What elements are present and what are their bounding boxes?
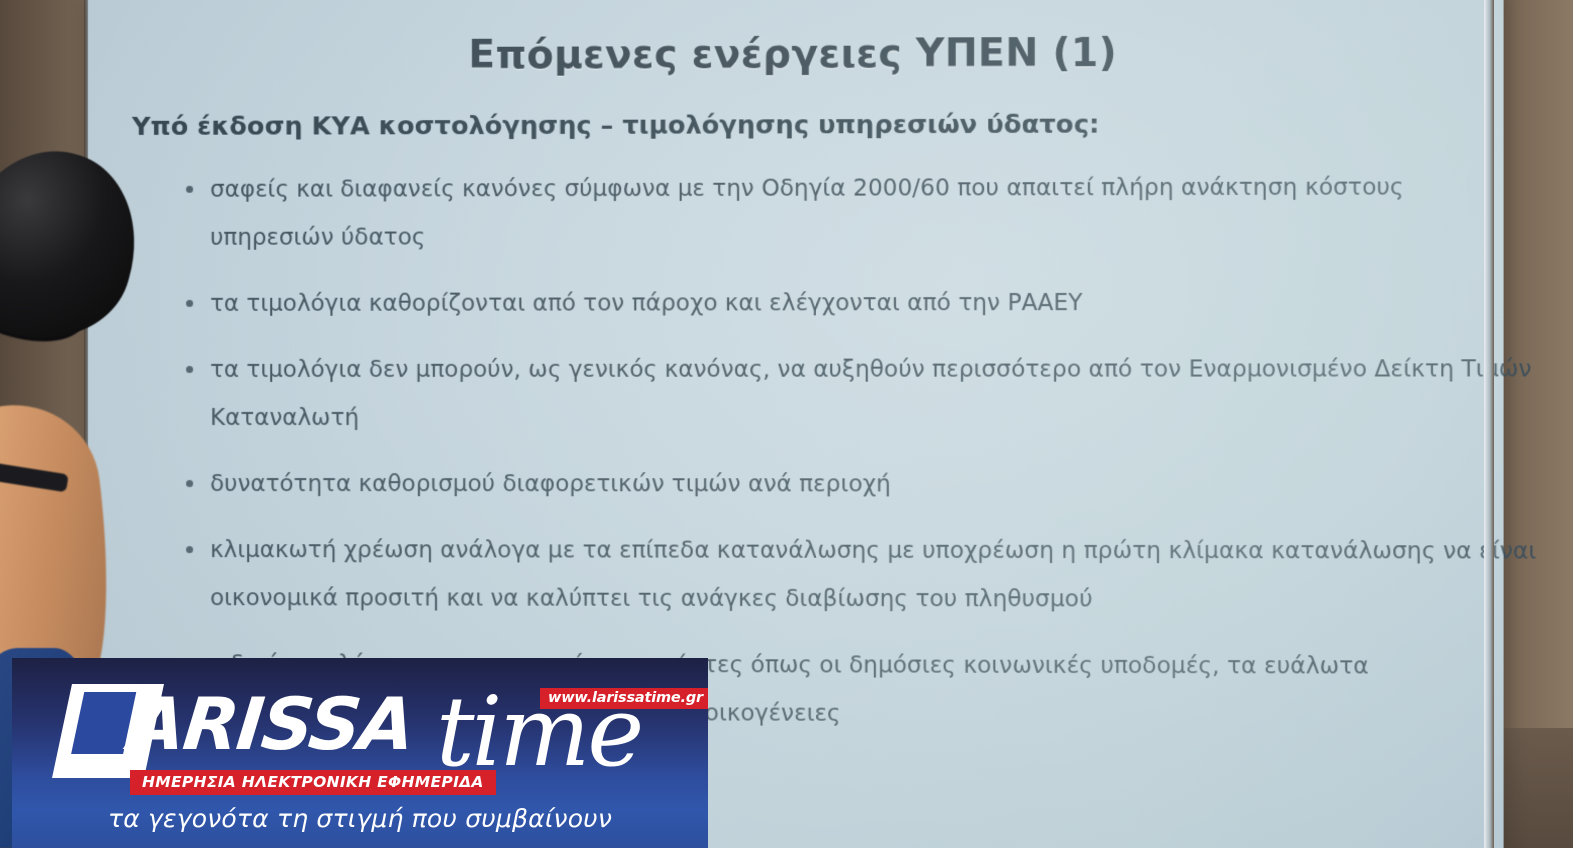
bullet-text: σαφείς και διαφανείς κανόνες σύμφωνα με … [210, 174, 1404, 250]
bullet-text: κλιμακωτή χρέωση ανάλογα με τα επίπεδα κ… [210, 537, 1536, 612]
list-item: τα τιμολόγια δεν μπορούν, ως γενικός καν… [184, 345, 1547, 442]
larissatime-watermark: ARISSA time www.larissatime.gr ΗΜΕΡΗΣΙΑ … [12, 658, 708, 848]
bullet-text: δυνατότητα καθορισμού διαφορετικών τιμών… [210, 471, 891, 497]
watermark-slogan: τα γεγονότα τη στιγμή που συμβαίνουν [12, 804, 708, 833]
watermark-brand-primary: ARISSA [126, 688, 416, 760]
screenshot-stage: Επόμενες ενέργειες ΥΠΕΝ (1) Υπό έκδοση Κ… [0, 0, 1573, 848]
slide-title: Επόμενες ενέργειες ΥΠΕΝ (1) [88, 30, 1504, 79]
bullet-text: τα τιμολόγια καθορίζονται από τον πάροχο… [210, 290, 1082, 317]
watermark-url-badge: www.larissatime.gr [540, 688, 708, 709]
list-item: κλιμακωτή χρέωση ανάλογα με τα επίπεδα κ… [184, 526, 1547, 624]
bullet-dot-icon [186, 366, 193, 373]
projection-screen-right-edge [1484, 0, 1494, 848]
watermark-logo: ARISSA time www.larissatime.gr ΗΜΕΡΗΣΙΑ … [12, 666, 708, 786]
watermark-tagline-badge: ΗΜΕΡΗΣΙΑ ΗΛΕΚΤΡΟΝΙΚΗ ΕΦΗΜΕΡΙΔΑ [130, 770, 496, 795]
list-item: σαφείς και διαφανείς κανόνες σύμφωνα με … [184, 163, 1499, 262]
bullet-dot-icon [186, 546, 193, 553]
bullet-dot-icon [186, 300, 193, 307]
list-item: τα τιμολόγια καθορίζονται από τον πάροχο… [184, 278, 1499, 328]
bullet-dot-icon [186, 186, 193, 193]
bullet-dot-icon [186, 480, 193, 487]
slide-subtitle: Υπό έκδοση ΚΥΑ κοστολόγησης – τιμολόγηση… [132, 109, 1099, 141]
list-item: δυνατότητα καθορισμού διαφορετικών τιμών… [184, 460, 1499, 509]
bullet-text: τα τιμολόγια δεν μπορούν, ως γενικός καν… [210, 356, 1532, 431]
